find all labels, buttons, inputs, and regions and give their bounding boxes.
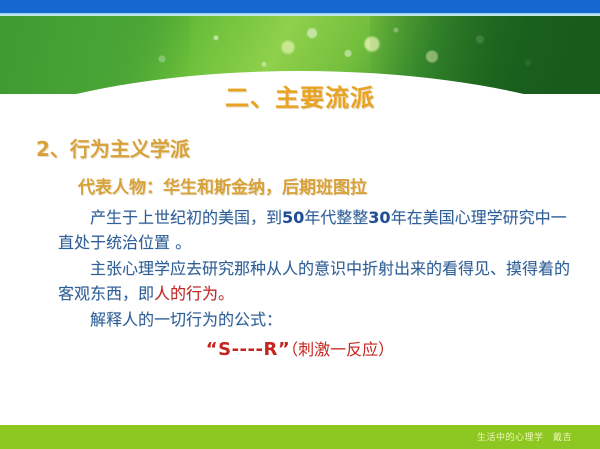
paragraph-origin-part-2: 年代整整: [304, 208, 368, 227]
footer-credit-text: 生活中的心理学 戴吉: [477, 430, 572, 443]
paragraph-claim: 主张心理学应去研究那种从人的意识中折射出来的看得见、摸得着的客观东西，即人的行为…: [58, 256, 578, 306]
formula-expression: “S----R”: [206, 339, 290, 360]
paragraph-claim-highlight: 人的行为。: [154, 284, 234, 303]
page-title: 二、主要流派: [0, 78, 600, 113]
top-blue-band: [0, 0, 600, 13]
body-text-block: 产生于上世纪初的美国，到50年代整整30年在美国心理学研究中一直处于统治位置 。…: [58, 205, 578, 332]
paragraph-origin-part-1: 产生于上世纪初的美国，到: [90, 208, 282, 227]
paragraph-formula-intro-text: 解释人的一切行为的公式：: [90, 310, 282, 329]
paragraph-origin: 产生于上世纪初的美国，到50年代整整30年在美国心理学研究中一直处于统治位置 。: [58, 205, 578, 255]
formula-annotation: （刺激一反应）: [290, 340, 394, 359]
section-subheading: 2、行为主义学派: [36, 133, 190, 162]
formula-line: “S----R”（刺激一反应）: [0, 336, 600, 360]
representative-figures-line: 代表人物：华生和斯金纳，后期班图拉: [78, 173, 367, 198]
paragraph-origin-number-30: 30: [368, 208, 390, 227]
paragraph-formula-intro: 解释人的一切行为的公式：: [58, 307, 578, 332]
footer-green-bar: 生活中的心理学 戴吉: [0, 425, 600, 449]
presentation-slide: 二、主要流派 2、行为主义学派 代表人物：华生和斯金纳，后期班图拉 产生于上世纪…: [0, 0, 600, 449]
paragraph-origin-number-50: 50: [282, 208, 304, 227]
paragraph-claim-part-1: 主张心理学应去研究那种从人的意识中折射出来的看得见、摸得着的客观东西，即: [58, 259, 570, 303]
